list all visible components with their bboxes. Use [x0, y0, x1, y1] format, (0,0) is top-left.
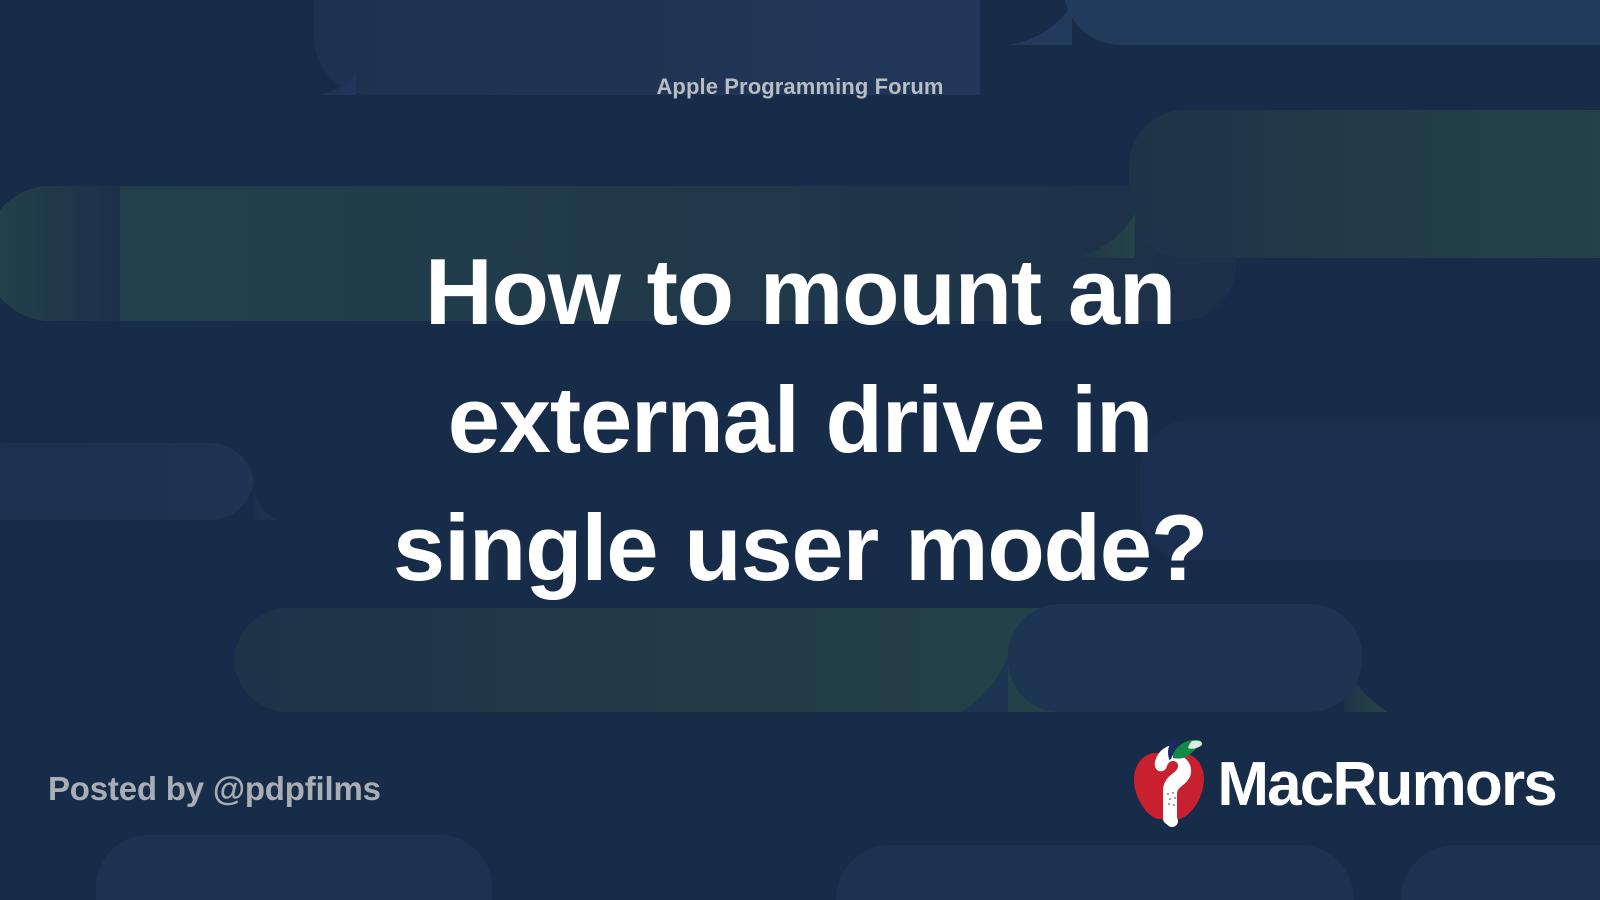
posted-by-label: Posted by @pdpfilms: [48, 770, 381, 808]
macrumors-apple-question-mark-icon: [1129, 735, 1211, 827]
title-line-1: How to mount an: [425, 239, 1175, 344]
title-line-2: external drive in: [448, 367, 1153, 472]
forum-label: Apple Programming Forum: [0, 74, 1600, 100]
share-card: Apple Programming Forum How to mount ane…: [0, 0, 1600, 900]
page-title: How to mount anexternal drive insingle u…: [300, 228, 1300, 611]
macrumors-wordmark: MacRumors: [1217, 754, 1556, 816]
title-block: How to mount anexternal drive insingle u…: [300, 228, 1300, 611]
macrumors-logo: MacRumors: [1129, 735, 1556, 827]
title-line-3: single user mode?: [393, 495, 1207, 600]
